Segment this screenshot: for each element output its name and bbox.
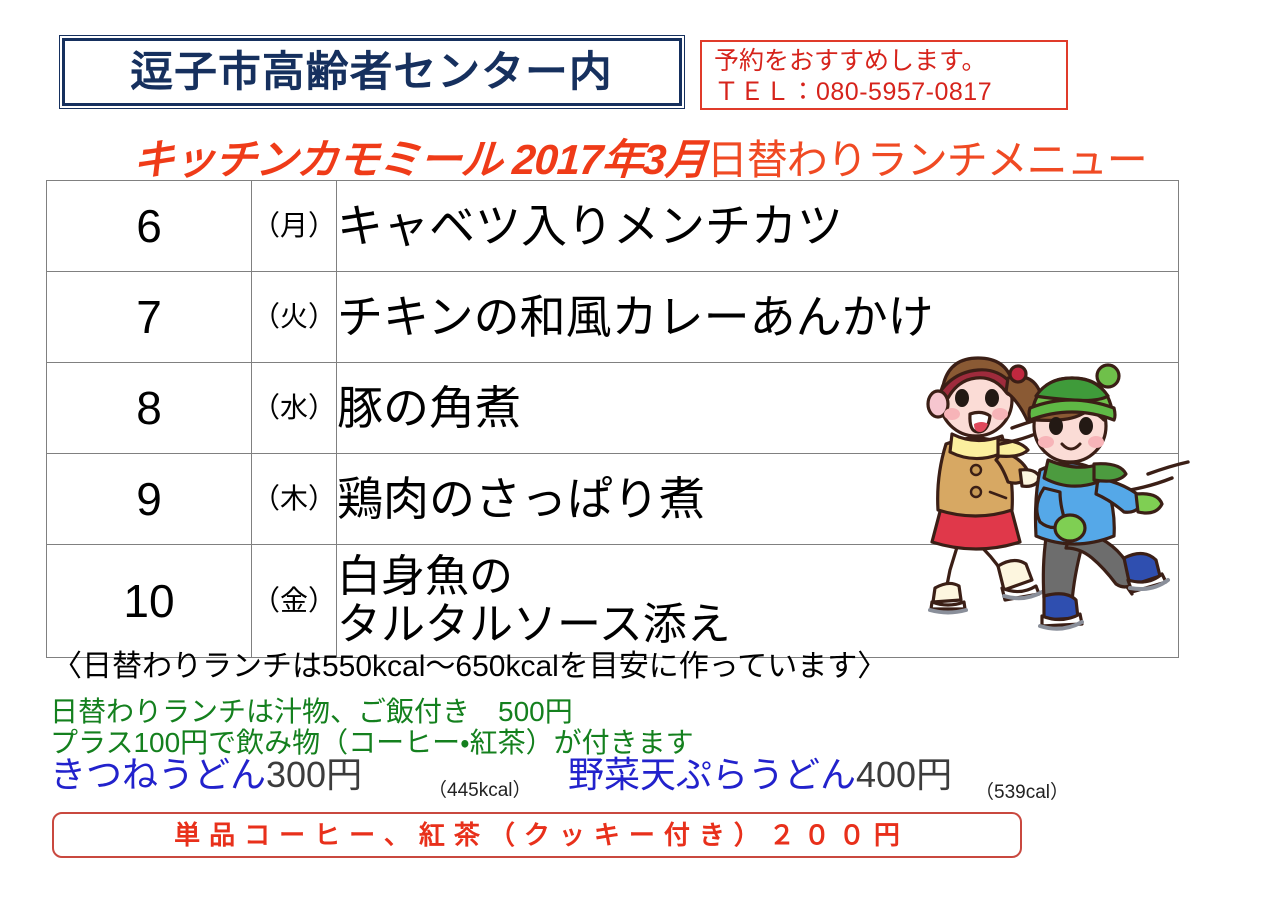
menu-dow: （金） (252, 545, 337, 658)
coffee-tea-box: 単品コーヒー、紅茶（クッキー付き）２００円 (52, 812, 1022, 858)
menu-item: 豚の角煮 (337, 363, 1179, 454)
menu-day: 8 (47, 363, 252, 454)
page-title-subtitle: 日替わりランチメニュー (707, 126, 1147, 186)
menu-dow: （木） (252, 454, 337, 545)
menu-item: 鶏肉のさっぱり煮 (337, 454, 1179, 545)
reservation-note: 予約をおすすめします。 (714, 46, 1060, 77)
table-row: 9 （木） 鶏肉のさっぱり煮 (47, 454, 1179, 545)
kcal-range-note: 〈日替わりランチは550kcal～650kcalを目安に作っています〉 (52, 652, 887, 682)
table-row: 6 （月） キャベツ入りメンチカツ (47, 181, 1179, 272)
table-row: 8 （水） 豚の角煮 (47, 363, 1179, 454)
kitsune-udon-name: きつねうどん (50, 754, 266, 795)
header: 逗子市高齢者センター内 予約をおすすめします。 ＴＥＬ：080-5957-081… (0, 38, 1280, 120)
tempura-udon-name: 野菜天ぷらうどん (568, 754, 856, 795)
menu-item: キャベツ入りメンチカツ (337, 181, 1179, 272)
menu-day: 10 (47, 545, 252, 658)
menu-item: チキンの和風カレーあんかけ (337, 272, 1179, 363)
page-title-shop-month: キッチンカモミール 2017年3月 (131, 126, 709, 187)
venue-name: 逗子市高齢者センター内 (131, 51, 613, 93)
menu-item: 白身魚の タルタルソース添え (337, 545, 1179, 658)
table-row: 7 （火） チキンの和風カレーあんかけ (47, 272, 1179, 363)
daily-lunch-table: 6 （月） キャベツ入りメンチカツ 7 （火） チキンの和風カレーあんかけ 8 … (46, 180, 1179, 658)
lunch-set-price-note: 日替わりランチは汁物、ご飯付き 500円 (50, 698, 573, 726)
tempura-udon-price: 400円 (856, 754, 952, 795)
menu-flyer: 逗子市高齢者センター内 予約をおすすめします。 ＴＥＬ：080-5957-081… (0, 0, 1280, 904)
kitsune-udon-entry: きつねうどん300円 (50, 757, 362, 793)
tempura-udon-entry: 野菜天ぷらうどん400円 (568, 757, 952, 793)
udon-price-row: きつねうどん300円 （445kcal） 野菜天ぷらうどん400円 （539ca… (50, 757, 1110, 802)
coffee-tea-text: 単品コーヒー、紅茶（クッキー付き）２００円 (165, 822, 909, 848)
menu-day: 6 (47, 181, 252, 272)
menu-dow: （水） (252, 363, 337, 454)
menu-dow: （火） (252, 272, 337, 363)
drink-addon-note: プラス100円で飲み物（コーヒー・紅茶）が付きます (50, 729, 694, 757)
reservation-box: 予約をおすすめします。 ＴＥＬ：080-5957-0817 (700, 40, 1068, 110)
menu-day: 9 (47, 454, 252, 545)
telephone-number[interactable]: ＴＥＬ：080-5957-0817 (714, 77, 1060, 108)
kitsune-udon-price: 300円 (266, 754, 362, 795)
menu-day: 7 (47, 272, 252, 363)
tempura-udon-kcal: （539cal） (975, 783, 1069, 802)
venue-banner: 逗子市高齢者センター内 (62, 38, 682, 106)
menu-dow: （月） (252, 181, 337, 272)
table-row: 10 （金） 白身魚の タルタルソース添え (47, 545, 1179, 658)
page-title: キッチンカモミール 2017年3月日替わりランチメニュー (0, 126, 1280, 178)
kitsune-udon-kcal: （445kcal） (428, 781, 532, 800)
